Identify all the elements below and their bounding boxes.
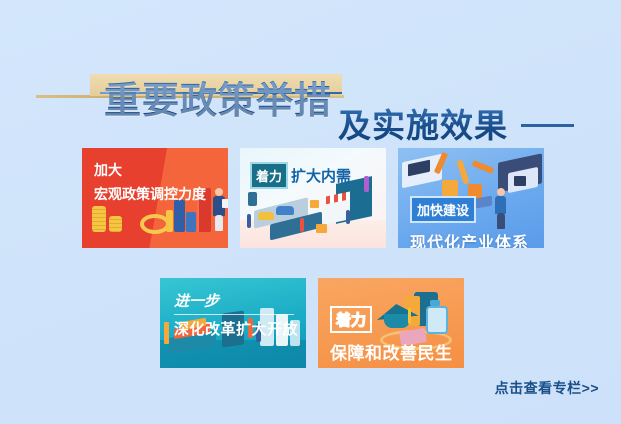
machine-right-screen	[514, 176, 526, 186]
card-expand-demand-text: 着力 扩大内需	[250, 162, 351, 189]
coin-stack-short-icon	[109, 216, 122, 232]
card-peoples-livelihood[interactable]: 着力 保障和改善民生	[318, 278, 464, 368]
poster-canvas: 重要政策举措 及实施效果 加大 宏观政策调控力度	[0, 0, 621, 424]
car-blue	[276, 206, 294, 215]
card2-line-1: 着力	[250, 162, 288, 189]
robot-arm-2	[456, 160, 469, 185]
card-expand-demand[interactable]: 着力 扩大内需	[240, 148, 386, 248]
title-dash	[521, 124, 574, 127]
kiosk-1	[248, 192, 257, 206]
card1-line-1: 加大	[94, 160, 206, 180]
tower-accent	[364, 176, 369, 192]
box-parcel-1	[310, 200, 319, 208]
card-peoples-livelihood-text: 着力 保障和改善民生	[330, 306, 453, 364]
person-figure-icon	[212, 188, 228, 234]
robot-arm-3	[472, 160, 495, 174]
card-reform-opening[interactable]: 进一步 深化改革扩大开放	[160, 278, 306, 368]
card-reform-opening-text: 进一步 深化改革扩大开放	[174, 290, 298, 339]
card5-line-1: 着力	[330, 306, 372, 333]
card1-line-2: 宏观政策调控力度	[94, 184, 206, 204]
crate-1	[442, 180, 458, 196]
coin-stack-tall-icon	[92, 206, 106, 232]
title-line-2: 及实施效果	[338, 99, 508, 147]
title-line-1: 重要政策举措	[104, 70, 332, 124]
card4-line-1: 进一步	[174, 290, 298, 311]
bar-blue-1	[174, 200, 185, 232]
bar-gold	[166, 210, 173, 232]
pedestrian-3	[346, 210, 350, 224]
card4-divider	[174, 314, 294, 315]
card5-line-2: 保障和改善民生	[330, 339, 453, 364]
crane-mast	[164, 322, 169, 344]
pedestrian-1	[247, 214, 251, 228]
card4-line-2: 深化改革扩大开放	[174, 318, 298, 339]
card2-line-2: 扩大内需	[291, 165, 351, 186]
card3-line-1: 加快建设	[410, 196, 476, 223]
pedestrian-2	[300, 218, 304, 232]
car-yellow	[258, 212, 274, 220]
card-modern-industry[interactable]: 加快建设 现代化产业体系	[398, 148, 544, 248]
view-column-link[interactable]: 点击查看专栏>>	[495, 378, 599, 398]
card-modern-industry-text: 加快建设 现代化产业体系	[410, 196, 529, 248]
card3-line-2: 现代化产业体系	[410, 229, 529, 248]
card-macro-policy-text: 加大 宏观政策调控力度	[94, 160, 206, 204]
box-parcel-2	[316, 224, 327, 233]
bar-blue-2	[186, 212, 196, 232]
card-macro-policy[interactable]: 加大 宏观政策调控力度	[82, 148, 228, 248]
page-title: 重要政策举措 及实施效果	[0, 36, 621, 116]
